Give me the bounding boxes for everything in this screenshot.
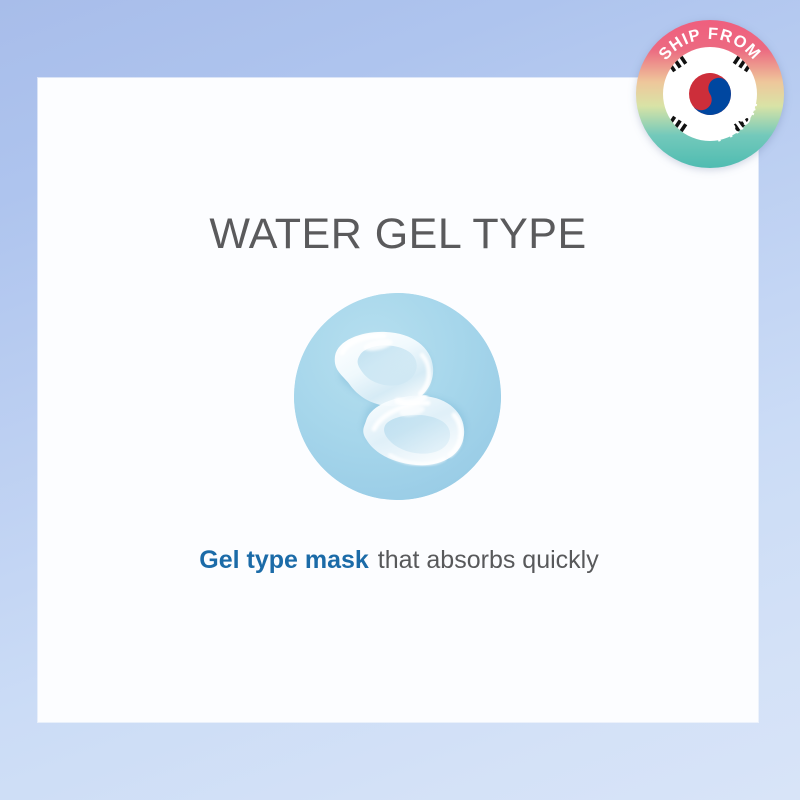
- gel-swatch-icon: [294, 293, 501, 500]
- caption-text: Gel type mask that absorbs quickly: [38, 546, 758, 575]
- ship-from-badge: SHIP FROM PRISM: [634, 18, 786, 170]
- poster-canvas: WATER GEL TYPE: [0, 0, 800, 800]
- gel-texture-image: [294, 293, 501, 500]
- content-card: WATER GEL TYPE: [38, 78, 758, 722]
- caption-rest: that absorbs quickly: [371, 546, 599, 574]
- page-title: WATER GEL TYPE: [38, 210, 758, 259]
- caption-highlight: Gel type mask: [197, 546, 371, 574]
